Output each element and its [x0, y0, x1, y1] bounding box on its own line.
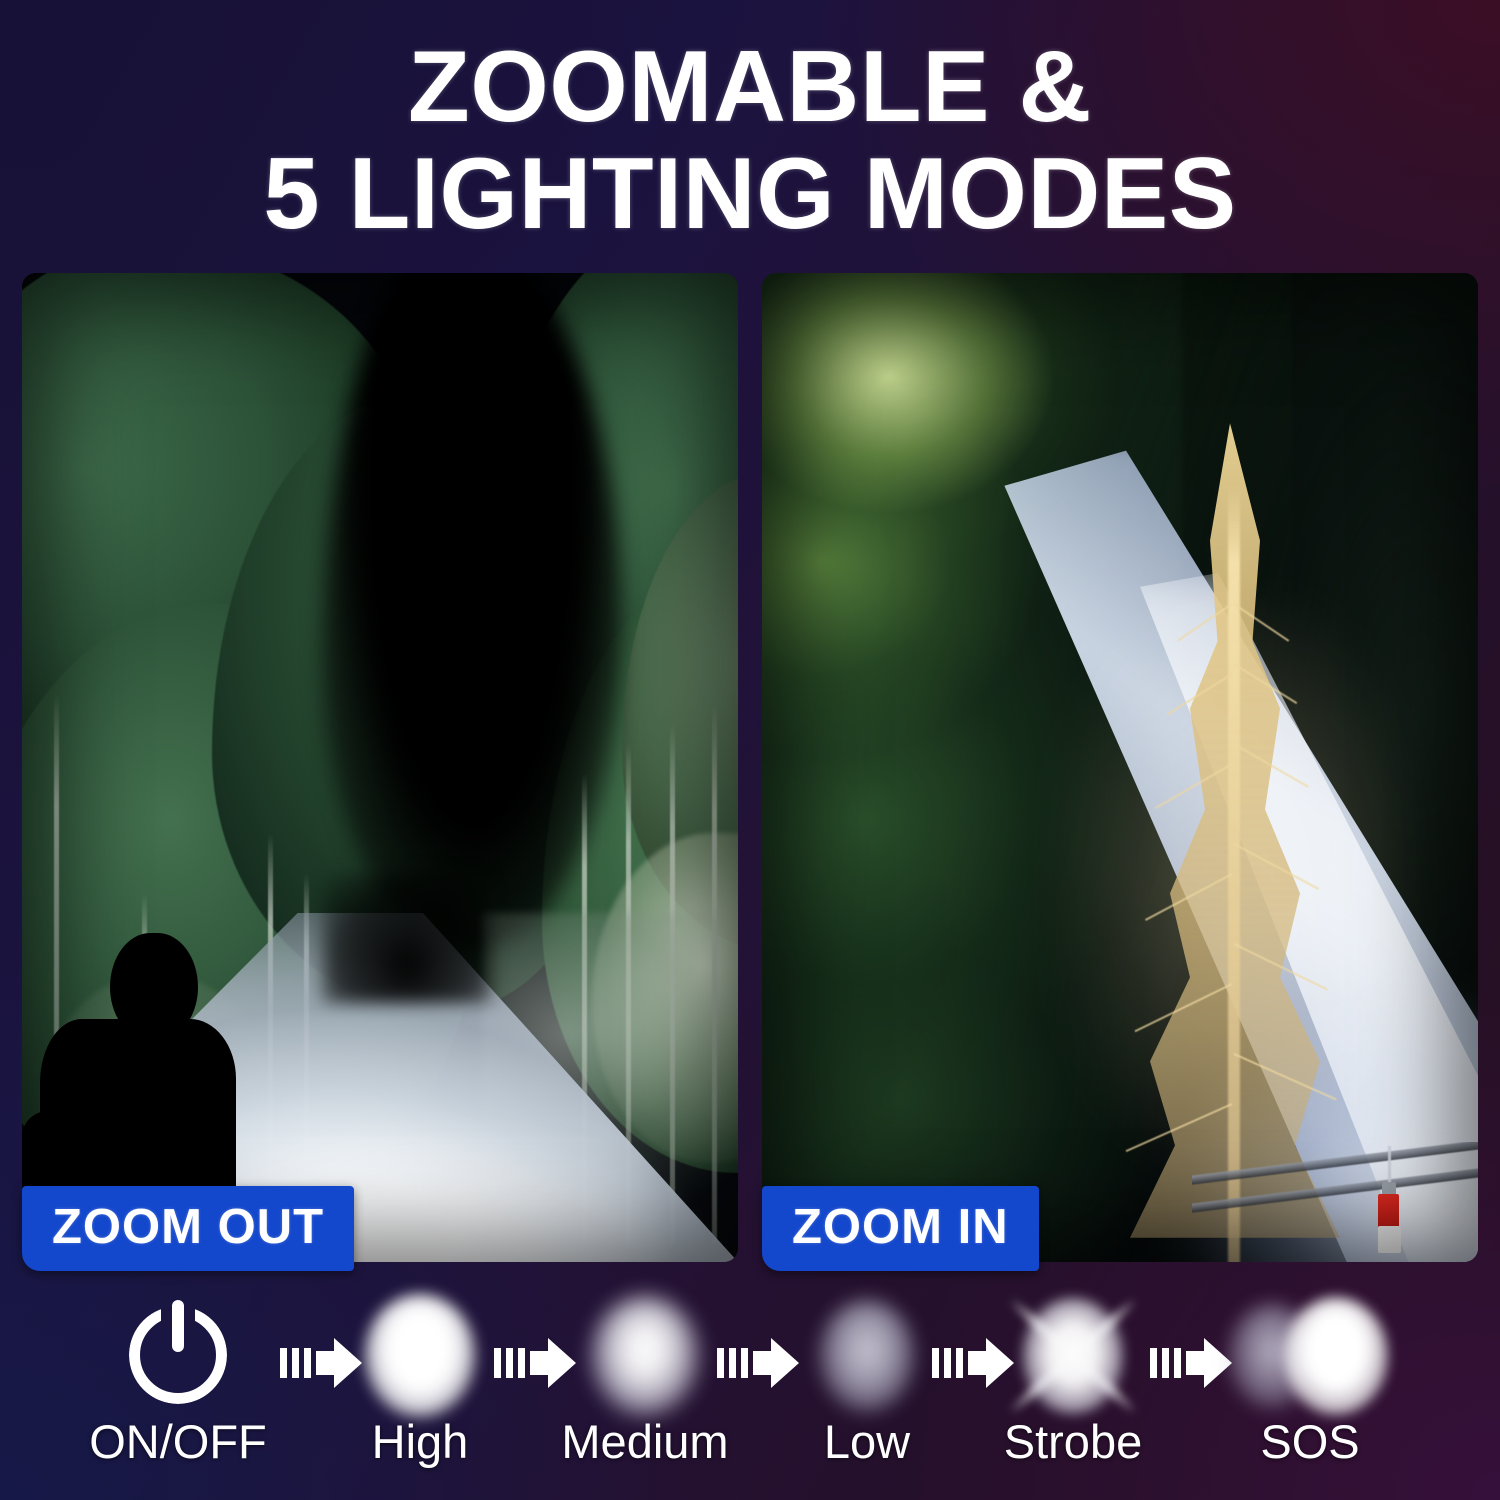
arrow-bar [729, 1348, 736, 1378]
mode-on-off: ON/OFF [73, 1292, 283, 1492]
page-title: ZOOMABLE & 5 LIGHTING MODES [0, 34, 1500, 248]
arrow-bar [506, 1348, 513, 1378]
arrow-bar [280, 1348, 287, 1378]
power-bar-shape [172, 1300, 184, 1352]
mode-label-high: High [315, 1414, 525, 1469]
badge-zoom-in: ZOOM IN [762, 1186, 1039, 1271]
arrow-bar [1162, 1348, 1169, 1378]
arrow-bar [717, 1348, 724, 1378]
mode-low: Low [762, 1292, 972, 1492]
mini-flashlight-head [1378, 1226, 1401, 1253]
arrow-bar [956, 1348, 963, 1378]
arrow-bar [1150, 1348, 1157, 1378]
headline-line-2: 5 LIGHTING MODES [0, 141, 1500, 248]
mode-label-sos: SOS [1205, 1414, 1415, 1469]
mode-strobe: Strobe [968, 1292, 1178, 1492]
headline-line-1: ZOOMABLE & [0, 34, 1500, 141]
arrow-bar [292, 1348, 299, 1378]
photo-zoom-out [22, 273, 738, 1262]
sos-bright-blob [1284, 1297, 1388, 1415]
arrow-bar [741, 1348, 748, 1378]
mode-sos: SOS [1205, 1292, 1415, 1492]
light-blob-shape [591, 1296, 699, 1416]
mode-label-strobe: Strobe [968, 1414, 1178, 1469]
mode-label-low: Low [762, 1414, 972, 1469]
light-blob-strobe-icon [968, 1292, 1178, 1420]
badge-zoom-out: ZOOM OUT [22, 1186, 354, 1271]
product-feature-banner: ZOOMABLE & 5 LIGHTING MODES [0, 0, 1500, 1500]
arrow-bar [932, 1348, 939, 1378]
roadside-guardrail [1192, 1142, 1478, 1262]
mode-high: High [315, 1292, 525, 1492]
arrow-bar [944, 1348, 951, 1378]
arrow-bar [518, 1348, 525, 1378]
mode-label-medium: Medium [540, 1414, 750, 1469]
arrow-bar [1174, 1348, 1181, 1378]
dark-sky-gap [322, 273, 622, 953]
road-vanishing-point [322, 873, 492, 1003]
mode-medium: Medium [540, 1292, 750, 1492]
lighting-modes-row: ON/OFF High Medium [0, 1292, 1500, 1492]
mini-flashlight-body [1378, 1194, 1399, 1228]
light-blob-sos-icon [1205, 1292, 1415, 1420]
power-icon [73, 1292, 283, 1420]
photo-zoom-in [762, 273, 1478, 1262]
light-blob-shape [364, 1294, 476, 1418]
arrow-bar [304, 1348, 311, 1378]
arrow-bar [494, 1348, 501, 1378]
mode-label-on-off: ON/OFF [73, 1414, 283, 1469]
light-blob-shape [819, 1300, 915, 1412]
illuminated-bare-tree [1110, 423, 1360, 1262]
light-blob-shape [1023, 1298, 1123, 1414]
